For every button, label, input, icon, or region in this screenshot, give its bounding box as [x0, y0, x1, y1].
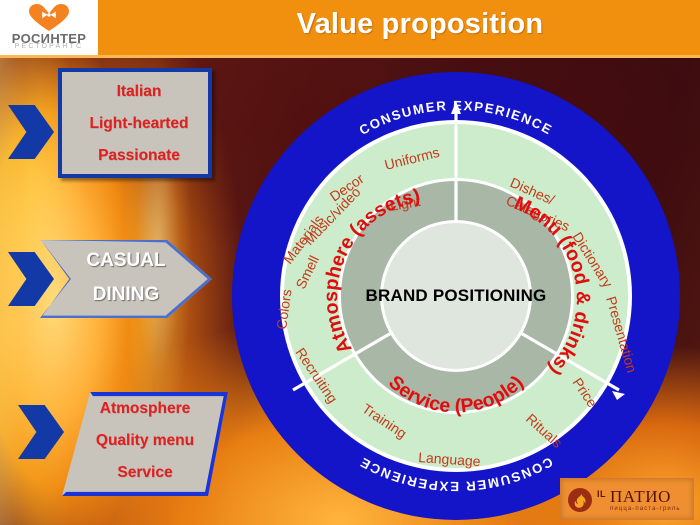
core [383, 223, 529, 369]
page-title: Value proposition [170, 8, 670, 41]
consumer-experience-wheel: CONSUMER EXPERIENCE CONSUMER EXPERIENCE … [228, 68, 684, 524]
il-patio-tagline: пицца-паста-гриль [610, 506, 681, 512]
header-divider [0, 55, 700, 58]
il-patio-prefix: IL [597, 489, 606, 499]
heart-bowtie-icon [29, 4, 69, 32]
positioning-line-2: Light-hearted [62, 116, 216, 132]
pillars-line-2: Quality menu [62, 432, 228, 450]
pillars-line-1: Atmosphere [62, 400, 228, 418]
rosinter-logo: РОСИНТЕР РЕСТОРАНТС [0, 0, 98, 55]
positioning-line-3: Passionate [62, 148, 216, 164]
rosinter-logo-subtitle: РЕСТОРАНТС [0, 43, 98, 50]
flame-circle-icon [568, 488, 592, 512]
positioning-line-1: Italian [62, 84, 216, 100]
positioning-box: Italian Light-hearted Passionate [58, 68, 212, 178]
pillars-line-3: Service [62, 464, 228, 482]
segment-line-1: CASUAL [40, 250, 212, 272]
il-patio-logo: IL ПАТИО пицца-паста-гриль [560, 478, 694, 520]
slide: Value proposition РОСИНТЕР РЕСТОРАНТС It… [0, 0, 700, 525]
il-patio-name: ПАТИО [610, 487, 671, 507]
segment-line-2: DINING [40, 284, 212, 306]
